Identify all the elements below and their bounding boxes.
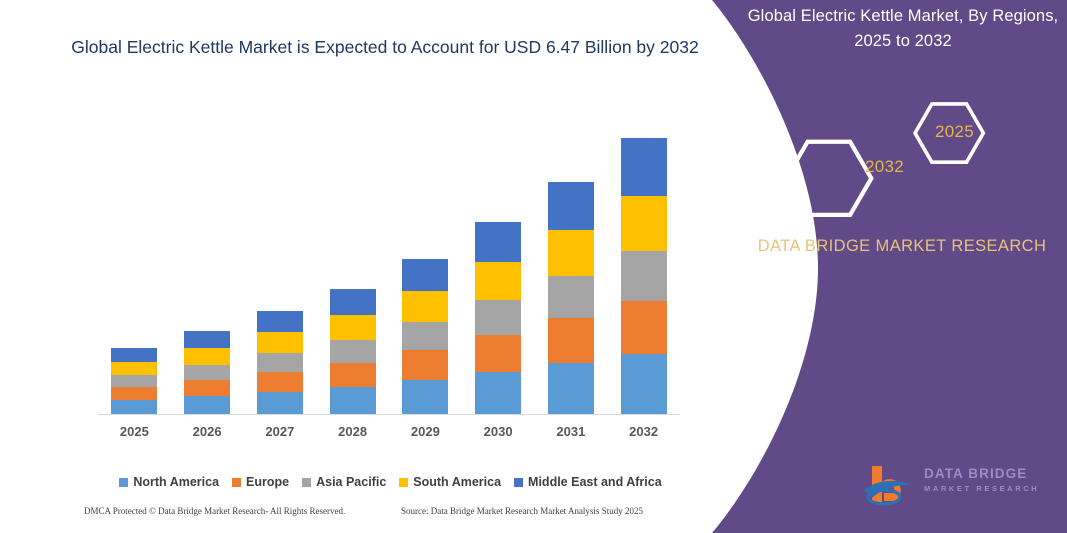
bar-segment[interactable] xyxy=(257,372,303,392)
hexagon-label-2025: 2025 xyxy=(935,122,974,142)
bar-2027[interactable] xyxy=(257,311,303,415)
bar-segment[interactable] xyxy=(111,400,157,415)
page-title: Global Electric Kettle Market is Expecte… xyxy=(70,34,700,61)
legend-item-south-america[interactable]: South America xyxy=(399,475,501,489)
bar-segment[interactable] xyxy=(548,363,594,415)
panel-content: Global Electric Kettle Market, By Region… xyxy=(737,0,1067,533)
bar-segment[interactable] xyxy=(621,196,667,251)
bar-segment[interactable] xyxy=(111,375,157,387)
bar-segment[interactable] xyxy=(111,348,157,362)
bar-2026[interactable] xyxy=(184,331,230,415)
legend-label: Middle East and Africa xyxy=(528,475,662,489)
x-axis-label-2028: 2028 xyxy=(318,424,388,439)
x-axis-label-2025: 2025 xyxy=(99,424,169,439)
bar-2032[interactable] xyxy=(621,138,667,415)
x-axis-label-2026: 2026 xyxy=(172,424,242,439)
bar-segment[interactable] xyxy=(621,251,667,301)
bar-segment[interactable] xyxy=(330,315,376,340)
bar-segment[interactable] xyxy=(548,230,594,276)
legend-label: Asia Pacific xyxy=(316,475,386,489)
data-bridge-logo: DATA BRIDGE MARKET RESEARCH xyxy=(862,462,1042,510)
chart-legend: North AmericaEuropeAsia PacificSouth Ame… xyxy=(98,472,683,492)
bar-segment[interactable] xyxy=(402,380,448,415)
bar-segment[interactable] xyxy=(621,138,667,196)
bar-segment[interactable] xyxy=(257,311,303,332)
brand-name: DATA BRIDGE MARKET RESEARCH xyxy=(752,234,1052,259)
bridge-mark-icon xyxy=(862,462,918,506)
bar-2029[interactable] xyxy=(402,259,448,415)
bar-segment[interactable] xyxy=(475,335,521,372)
bar-segment[interactable] xyxy=(111,362,157,375)
footer-source: Source: Data Bridge Market Research Mark… xyxy=(401,506,643,516)
bar-segment[interactable] xyxy=(257,353,303,372)
bar-segment[interactable] xyxy=(402,259,448,291)
bar-2031[interactable] xyxy=(548,182,594,415)
footer-copyright: DMCA Protected © Data Bridge Market Rese… xyxy=(84,506,345,516)
x-axis-label-2031: 2031 xyxy=(536,424,606,439)
legend-swatch-icon xyxy=(119,478,128,487)
bar-segment[interactable] xyxy=(184,331,230,348)
bar-segment[interactable] xyxy=(402,291,448,322)
panel-title: Global Electric Kettle Market, By Region… xyxy=(747,4,1059,54)
bar-2028[interactable] xyxy=(330,289,376,415)
bar-segment[interactable] xyxy=(475,372,521,415)
x-axis-labels: 20252026202720282029203020312032 xyxy=(98,424,680,444)
legend-item-asia-pacific[interactable]: Asia Pacific xyxy=(302,475,386,489)
bar-segment[interactable] xyxy=(257,392,303,415)
bar-segment[interactable] xyxy=(184,396,230,415)
x-axis-label-2027: 2027 xyxy=(245,424,315,439)
legend-swatch-icon xyxy=(399,478,408,487)
x-axis-label-2029: 2029 xyxy=(390,424,460,439)
bar-2030[interactable] xyxy=(475,222,521,415)
logo-text-data-bridge: DATA BRIDGE xyxy=(924,466,1027,481)
bar-segment[interactable] xyxy=(330,289,376,315)
logo-text-market-research: MARKET RESEARCH xyxy=(924,484,1039,493)
bar-segment[interactable] xyxy=(548,318,594,363)
bar-segment[interactable] xyxy=(548,182,594,230)
hexagon-logo-group: 2032 2025 xyxy=(737,95,1067,230)
bar-segment[interactable] xyxy=(475,262,521,300)
bar-segment[interactable] xyxy=(548,276,594,318)
legend-swatch-icon xyxy=(514,478,523,487)
legend-swatch-icon xyxy=(302,478,311,487)
footer: DMCA Protected © Data Bridge Market Rese… xyxy=(0,506,700,526)
x-axis-label-2030: 2030 xyxy=(463,424,533,439)
infographic-canvas: Global Electric Kettle Market, By Region… xyxy=(0,0,1067,533)
bar-segment[interactable] xyxy=(257,332,303,353)
legend-label: Europe xyxy=(246,475,289,489)
hexagon-label-2032: 2032 xyxy=(865,157,904,177)
bar-segment[interactable] xyxy=(111,387,157,400)
bar-segment[interactable] xyxy=(184,348,230,365)
legend-label: South America xyxy=(413,475,501,489)
bar-segment[interactable] xyxy=(475,300,521,335)
x-axis-line xyxy=(98,414,680,415)
legend-item-north-america[interactable]: North America xyxy=(119,475,219,489)
legend-swatch-icon xyxy=(232,478,241,487)
bar-segment[interactable] xyxy=(402,350,448,380)
bar-segment[interactable] xyxy=(184,380,230,396)
bar-segment[interactable] xyxy=(184,365,230,380)
legend-item-europe[interactable]: Europe xyxy=(232,475,289,489)
bar-segment[interactable] xyxy=(402,322,448,350)
legend-label: North America xyxy=(133,475,219,489)
x-axis-label-2032: 2032 xyxy=(609,424,679,439)
bar-2025[interactable] xyxy=(111,348,157,415)
bar-segment[interactable] xyxy=(330,340,376,363)
legend-item-middle-east-and-africa[interactable]: Middle East and Africa xyxy=(514,475,662,489)
bar-segment[interactable] xyxy=(330,363,376,387)
bar-segment[interactable] xyxy=(475,222,521,262)
bar-segment[interactable] xyxy=(621,301,667,354)
bar-segment[interactable] xyxy=(621,354,667,415)
bar-segment[interactable] xyxy=(330,387,376,415)
stacked-bar-chart xyxy=(98,110,680,415)
